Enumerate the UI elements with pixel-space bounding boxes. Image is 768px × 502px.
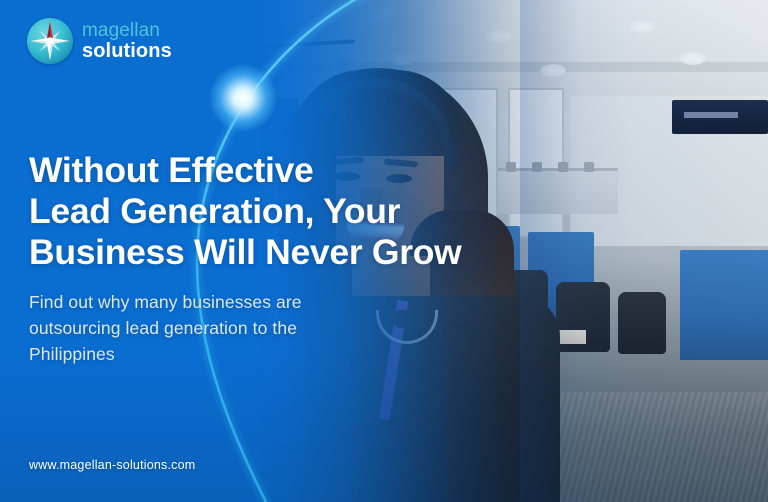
hero-banner: magellan solutions Without Effective Lea…	[0, 0, 768, 502]
headline-line-1: Without Effective	[29, 150, 559, 191]
headline-line-3: Business Will Never Grow	[29, 232, 559, 273]
headline-line-2: Lead Generation, Your	[29, 191, 559, 232]
brand-logo[interactable]: magellan solutions	[27, 18, 172, 64]
subheadline-line-1: Find out why many businesses are	[29, 289, 399, 315]
compass-rose-icon	[27, 18, 73, 64]
brand-name-top: magellan	[82, 21, 172, 40]
brand-name-bottom: solutions	[82, 41, 172, 61]
headline: Without Effective Lead Generation, Your …	[29, 150, 559, 273]
website-url[interactable]: www.magellan-solutions.com	[29, 458, 195, 472]
subheadline-line-2: outsourcing lead generation to the	[29, 315, 399, 341]
brand-wordmark: magellan solutions	[82, 21, 172, 61]
subheadline-line-3: Philippines	[29, 341, 399, 367]
subheadline: Find out why many businesses are outsour…	[29, 289, 399, 367]
